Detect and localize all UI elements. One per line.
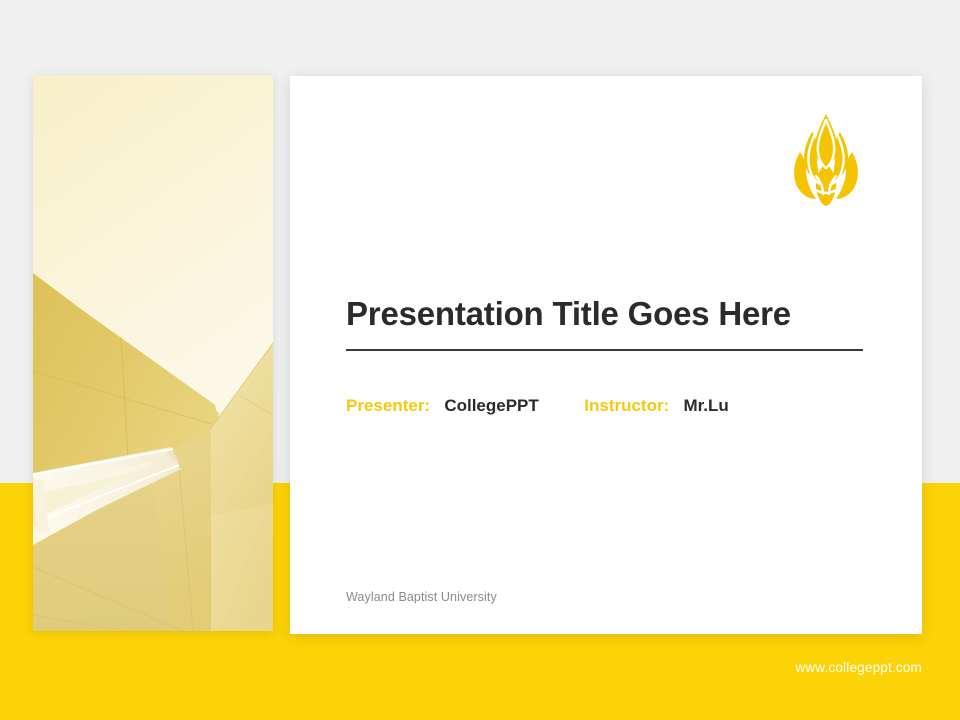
presenter-name: CollegePPT bbox=[444, 396, 538, 415]
title-divider bbox=[346, 349, 863, 351]
title-block: Presentation Title Goes Here bbox=[346, 296, 864, 351]
instructor-label: Instructor: bbox=[584, 396, 669, 415]
presenter-instructor-line: Presenter: CollegePPT Instructor: Mr.Lu bbox=[346, 396, 729, 416]
flame-torch-icon bbox=[788, 110, 864, 210]
page-title: Presentation Title Goes Here bbox=[346, 296, 864, 333]
architectural-photo-panel bbox=[33, 75, 273, 631]
slide-canvas: www.collegeppt.com bbox=[0, 0, 960, 720]
slide-card: Presentation Title Goes Here Presenter: … bbox=[290, 76, 922, 634]
presenter-label: Presenter: bbox=[346, 396, 430, 415]
flame-torch-icon-svg bbox=[788, 110, 864, 210]
architectural-ceiling-photo bbox=[33, 75, 273, 631]
university-name: Wayland Baptist University bbox=[346, 590, 497, 604]
footer-website-url[interactable]: www.collegeppt.com bbox=[795, 660, 922, 675]
instructor-name: Mr.Lu bbox=[683, 396, 728, 415]
